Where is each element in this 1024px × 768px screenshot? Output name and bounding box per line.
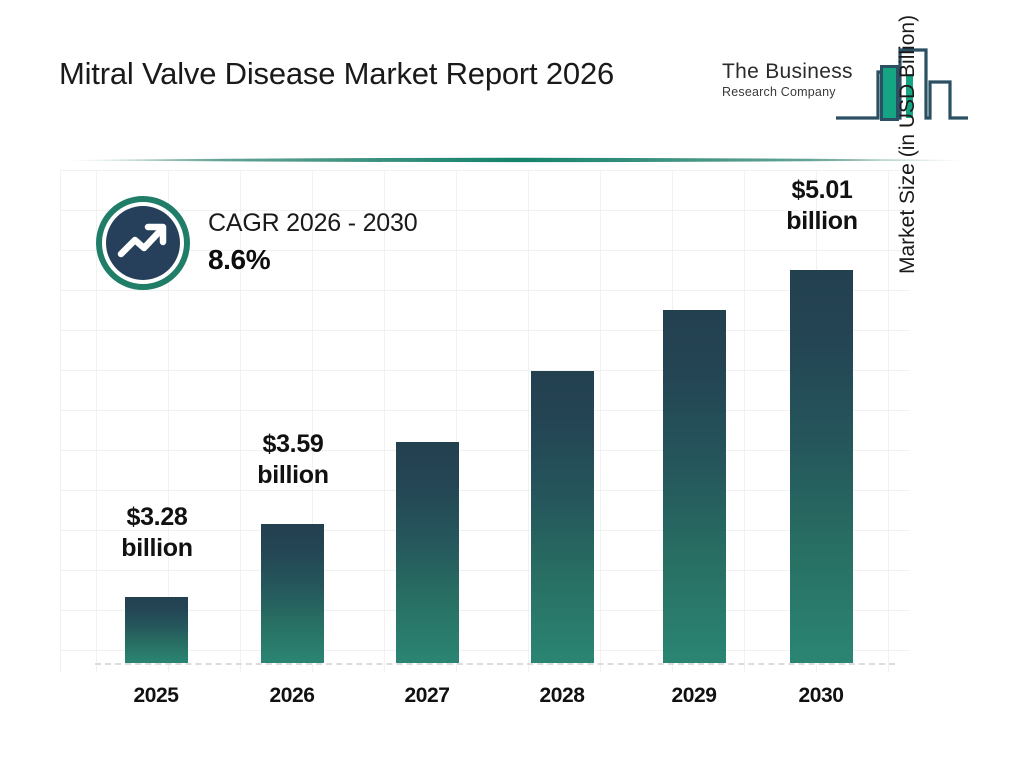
bar-label-2026-line1: $3.59	[232, 429, 354, 460]
bar-label-2026-line2: billion	[232, 460, 354, 491]
bar-label-2025-line2: billion	[96, 533, 218, 564]
bar-2029[interactable]	[663, 310, 726, 663]
y-axis-title-wrap: Market Size (in USD Billion)	[0, 162, 40, 662]
bar-2027[interactable]	[396, 442, 459, 663]
bar-2028[interactable]	[531, 371, 594, 663]
bar-plot: $3.28 billion $3.59 billion	[0, 162, 1024, 768]
company-logo: The Business Research Company	[722, 38, 970, 130]
bar-2026[interactable]	[261, 524, 324, 663]
x-axis-label-2027: 2027	[367, 684, 487, 708]
bar-label-2025: $3.28 billion	[96, 502, 218, 564]
y-axis-title: Market Size (in USD Billion)	[896, 0, 920, 274]
bar-label-2030-line1: $5.01	[761, 175, 883, 206]
bar-label-2025-line1: $3.28	[96, 502, 218, 533]
page-title: Mitral Valve Disease Market Report 2026	[59, 50, 699, 98]
bar-label-2030: $5.01 billion	[761, 175, 883, 237]
x-axis-label-2025: 2025	[96, 684, 216, 708]
header-divider	[60, 152, 970, 162]
x-axis-label-2029: 2029	[634, 684, 754, 708]
slide-root: Mitral Valve Disease Market Report 2026 …	[0, 0, 1024, 768]
bar-2025[interactable]	[125, 597, 188, 663]
header: Mitral Valve Disease Market Report 2026 …	[0, 0, 1024, 150]
axis-baseline	[95, 663, 895, 665]
chart-area: CAGR 2026 - 2030 8.6% $3.28 billion $3.5…	[0, 162, 1024, 768]
bar-2030[interactable]	[790, 270, 853, 663]
x-axis-label-2028: 2028	[502, 684, 622, 708]
x-axis-label-2026: 2026	[232, 684, 352, 708]
bar-label-2030-line2: billion	[761, 206, 883, 237]
x-axis-label-2030: 2030	[761, 684, 881, 708]
bar-label-2026: $3.59 billion	[232, 429, 354, 491]
